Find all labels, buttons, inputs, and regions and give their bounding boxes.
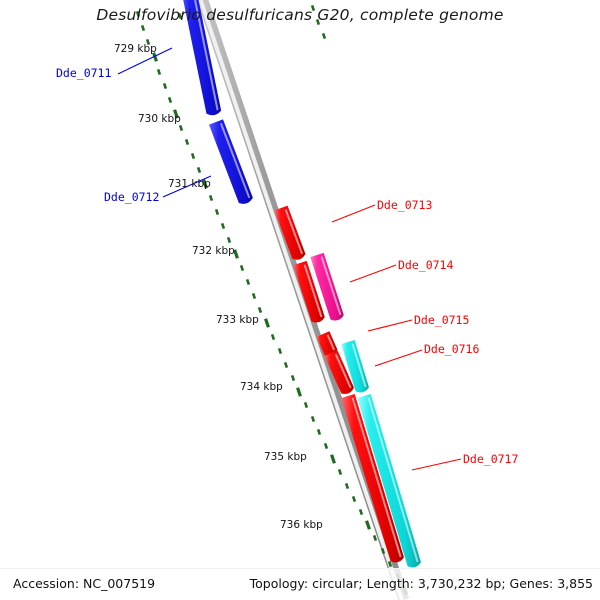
ruler-tick (142, 25, 144, 30)
ruler-tick (382, 548, 384, 553)
gene-feature-layer[interactable] (181, 0, 421, 567)
gene-label-dde_0715[interactable]: Dde_0715 (414, 313, 469, 327)
gene-label-dde_0714[interactable]: Dde_0714 (398, 258, 453, 272)
status-bar: Accession: NC_007519 Topology: circular;… (0, 568, 600, 600)
gene-label-dde_0717[interactable]: Dde_0717 (463, 452, 518, 466)
ruler-tick (158, 69, 160, 74)
ruler-tick (323, 33, 325, 38)
ruler-tick (253, 293, 255, 298)
genome-map-canvas[interactable] (0, 0, 600, 600)
ruler-tick (353, 496, 355, 501)
ruler-tick (179, 13, 181, 18)
leader-line (375, 350, 422, 366)
gene-label-dde_0712[interactable]: Dde_0712 (104, 190, 159, 204)
ruler-tick (374, 535, 376, 540)
gene-feature (181, 0, 222, 115)
ruler-tick (305, 402, 307, 407)
ruler-tick (292, 375, 294, 380)
ruler-tick (367, 521, 370, 530)
ruler-tick (222, 223, 224, 228)
ruler-label: 733 kbp (216, 314, 259, 326)
genome-backbone (194, 0, 404, 600)
ruler-tick (298, 388, 301, 397)
genome-viewer[interactable]: Desulfovibrio desulfuricans G20, complet… (0, 0, 600, 600)
ruler-tick (312, 416, 314, 421)
ruler-tick (186, 139, 188, 144)
ruler-tick (279, 348, 281, 353)
leader-line (350, 265, 396, 282)
ruler-label: 732 kbp (192, 245, 235, 257)
ruler-tick (228, 237, 230, 242)
gene-label-dde_0711[interactable]: Dde_0711 (56, 66, 111, 80)
ruler-label: 736 kbp (280, 519, 323, 531)
gene-label-dde_0713[interactable]: Dde_0713 (377, 198, 432, 212)
ruler-label: 729 kbp (114, 43, 157, 55)
leader-line (332, 205, 375, 222)
accession-text: Accession: NC_007519 (13, 576, 155, 591)
ruler-tick (169, 97, 171, 102)
ruler-label: 735 kbp (264, 451, 307, 463)
leader-line (412, 459, 461, 470)
leader-line (368, 320, 412, 331)
ruler-label: 734 kbp (240, 381, 283, 393)
ruler-label: 730 kbp (138, 113, 181, 125)
ruler-tick (339, 469, 341, 474)
ruler-tick (247, 279, 249, 284)
ruler-tick (325, 443, 327, 448)
ruler-tick (346, 483, 348, 488)
ruler-tick (389, 561, 391, 566)
gene-label-dde_0716[interactable]: Dde_0716 (424, 342, 479, 356)
ruler-tick (137, 11, 139, 16)
genome-metadata-text: Topology: circular; Length: 3,730,232 bp… (250, 576, 593, 591)
ruler-tick (285, 362, 287, 367)
ruler-tick (259, 307, 261, 312)
ruler-tick (241, 265, 243, 270)
ruler-tick (164, 83, 166, 88)
ruler-tick (210, 195, 212, 200)
ruler-tick (266, 319, 269, 328)
ruler-tick (180, 125, 182, 130)
genome-ruler-ticks (137, 5, 406, 594)
ruler-label: 731 kbp (168, 178, 211, 190)
ruler-tick (312, 5, 314, 10)
ruler-tick (272, 334, 274, 339)
ruler-tick (192, 153, 194, 158)
ruler-tick (216, 209, 218, 214)
ruler-tick (317, 19, 319, 24)
ruler-tick (332, 455, 335, 464)
status-bar-divider (0, 568, 600, 569)
ruler-tick (318, 429, 320, 434)
ruler-tick (198, 167, 200, 172)
ruler-tick (360, 509, 362, 514)
